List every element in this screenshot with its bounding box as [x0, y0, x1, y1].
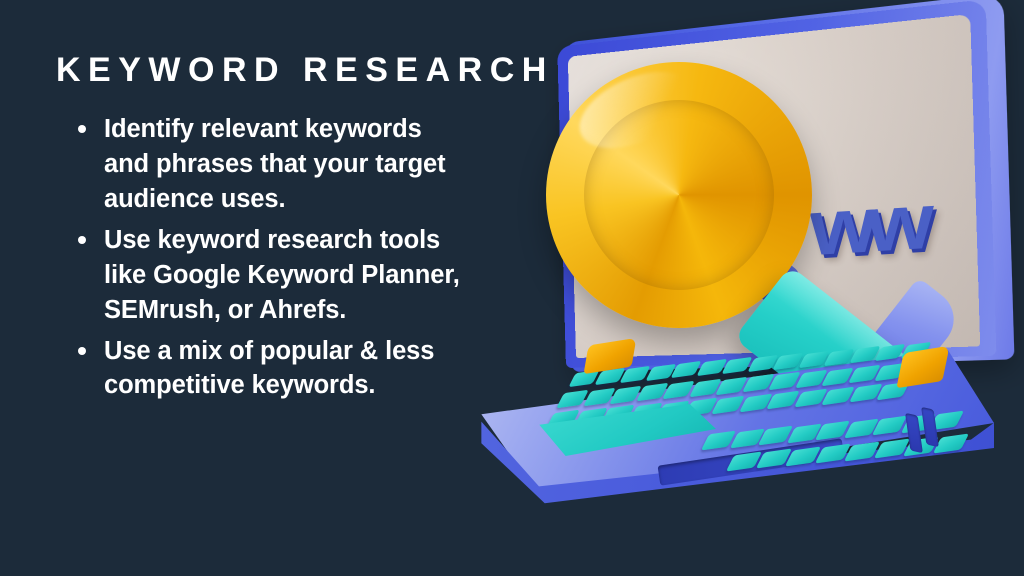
list-item-label: Use keyword research tools like Google K… [104, 226, 460, 324]
list-item: Identify relevant keywords and phrases t… [66, 112, 466, 217]
bullet-dot-icon [78, 347, 86, 355]
text-column: KEYWORD RESEARCH Identify relevant keywo… [0, 0, 520, 576]
bullet-dot-icon [78, 125, 86, 133]
list-item: Use a mix of popular & less competitive … [66, 334, 466, 404]
list-item-label: Identify relevant keywords and phrases t… [104, 115, 446, 213]
slide-canvas: ww w KEYWORD RESEARCH [0, 0, 1024, 576]
page-title: KEYWORD RESEARCH [56, 52, 554, 89]
list-item: Use keyword research tools like Google K… [66, 223, 466, 328]
bullet-dot-icon [78, 236, 86, 244]
list-item-label: Use a mix of popular & less competitive … [104, 337, 434, 400]
keyboard-key [726, 451, 762, 471]
bullet-list: Identify relevant keywords and phrases t… [66, 112, 466, 409]
